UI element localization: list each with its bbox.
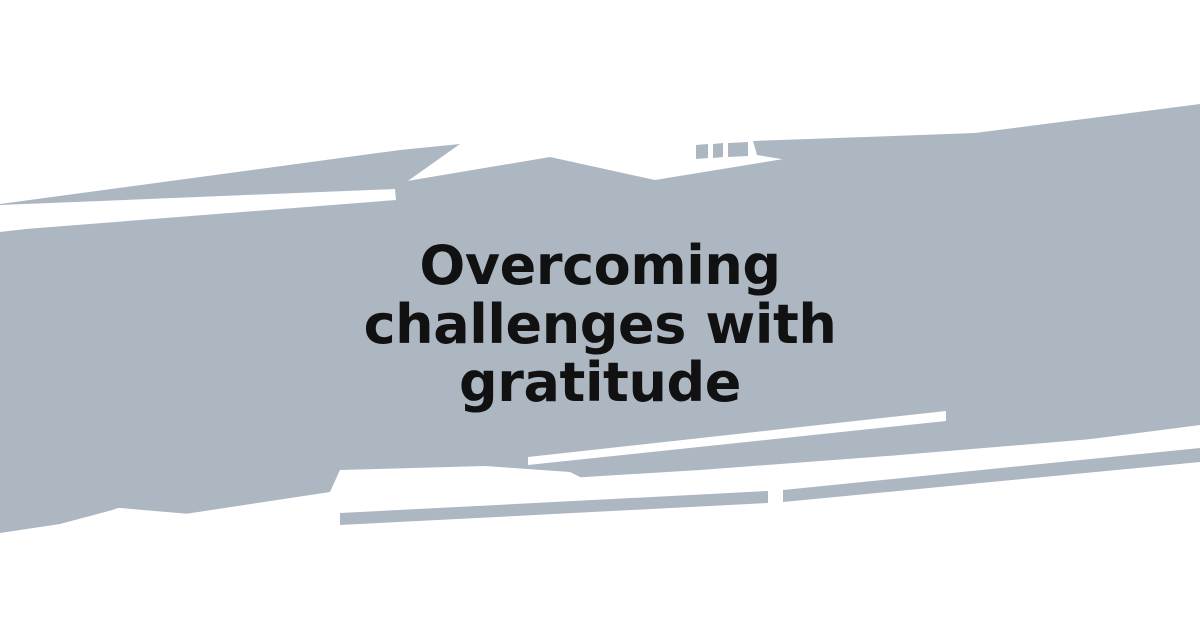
background-graphic <box>0 0 1200 630</box>
top-right-small-dash-1 <box>696 144 708 159</box>
banner-card: Overcoming challenges with gratitude <box>0 0 1200 630</box>
top-right-medium-dash <box>728 142 748 157</box>
top-right-small-dash-2 <box>713 143 723 158</box>
